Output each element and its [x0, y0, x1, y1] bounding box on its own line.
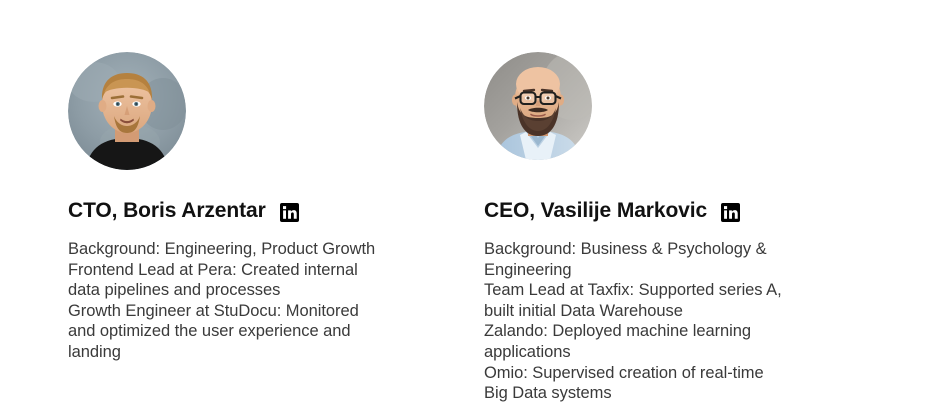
bio-line: landing: [68, 342, 416, 363]
bio-line: data pipelines and processes: [68, 280, 416, 301]
bio-line: Growth Engineer at StuDocu: Monitored: [68, 301, 416, 322]
bio-line: Engineering: [484, 260, 836, 281]
avatar: [484, 52, 592, 160]
bio-line: applications: [484, 342, 836, 363]
bio-line: Background: Engineering, Product Growth: [68, 239, 416, 260]
profile-card-cto: CTO, Boris Arzentar Background: Engineer…: [0, 0, 442, 412]
bio-line: built initial Data Warehouse: [484, 301, 836, 322]
bio-line: Team Lead at Taxfix: Supported series A,: [484, 280, 836, 301]
linkedin-glyph: [721, 203, 740, 222]
profile-heading: CTO, Boris Arzentar: [68, 199, 442, 223]
linkedin-glyph: [280, 203, 299, 222]
profile-name-text: CTO, Boris Arzentar: [68, 199, 266, 223]
profile-heading: CEO, Vasilije Markovic: [484, 199, 884, 223]
bio-line: Background: Business & Psychology &: [484, 239, 836, 260]
avatar-photo: [68, 52, 186, 170]
profile-name-text: CEO, Vasilije Markovic: [484, 199, 707, 223]
profile-bio: Background: Engineering, Product Growth …: [68, 239, 416, 363]
team-profiles-grid: CTO, Boris Arzentar Background: Engineer…: [0, 0, 948, 412]
bio-line: Frontend Lead at Pera: Created internal: [68, 260, 416, 281]
avatar-photo: [484, 52, 592, 160]
bio-line: Omio: Supervised creation of real-time: [484, 363, 836, 384]
profile-bio: Background: Business & Psychology & Engi…: [484, 239, 836, 404]
avatar: [68, 52, 186, 170]
linkedin-icon[interactable]: [721, 203, 740, 222]
bio-line: Zalando: Deployed machine learning: [484, 321, 836, 342]
profile-card-ceo: CEO, Vasilije Markovic Background: Busin…: [442, 0, 884, 412]
linkedin-icon[interactable]: [280, 203, 299, 222]
bio-line: Big Data systems: [484, 383, 836, 404]
bio-line: and optimized the user experience and: [68, 321, 416, 342]
